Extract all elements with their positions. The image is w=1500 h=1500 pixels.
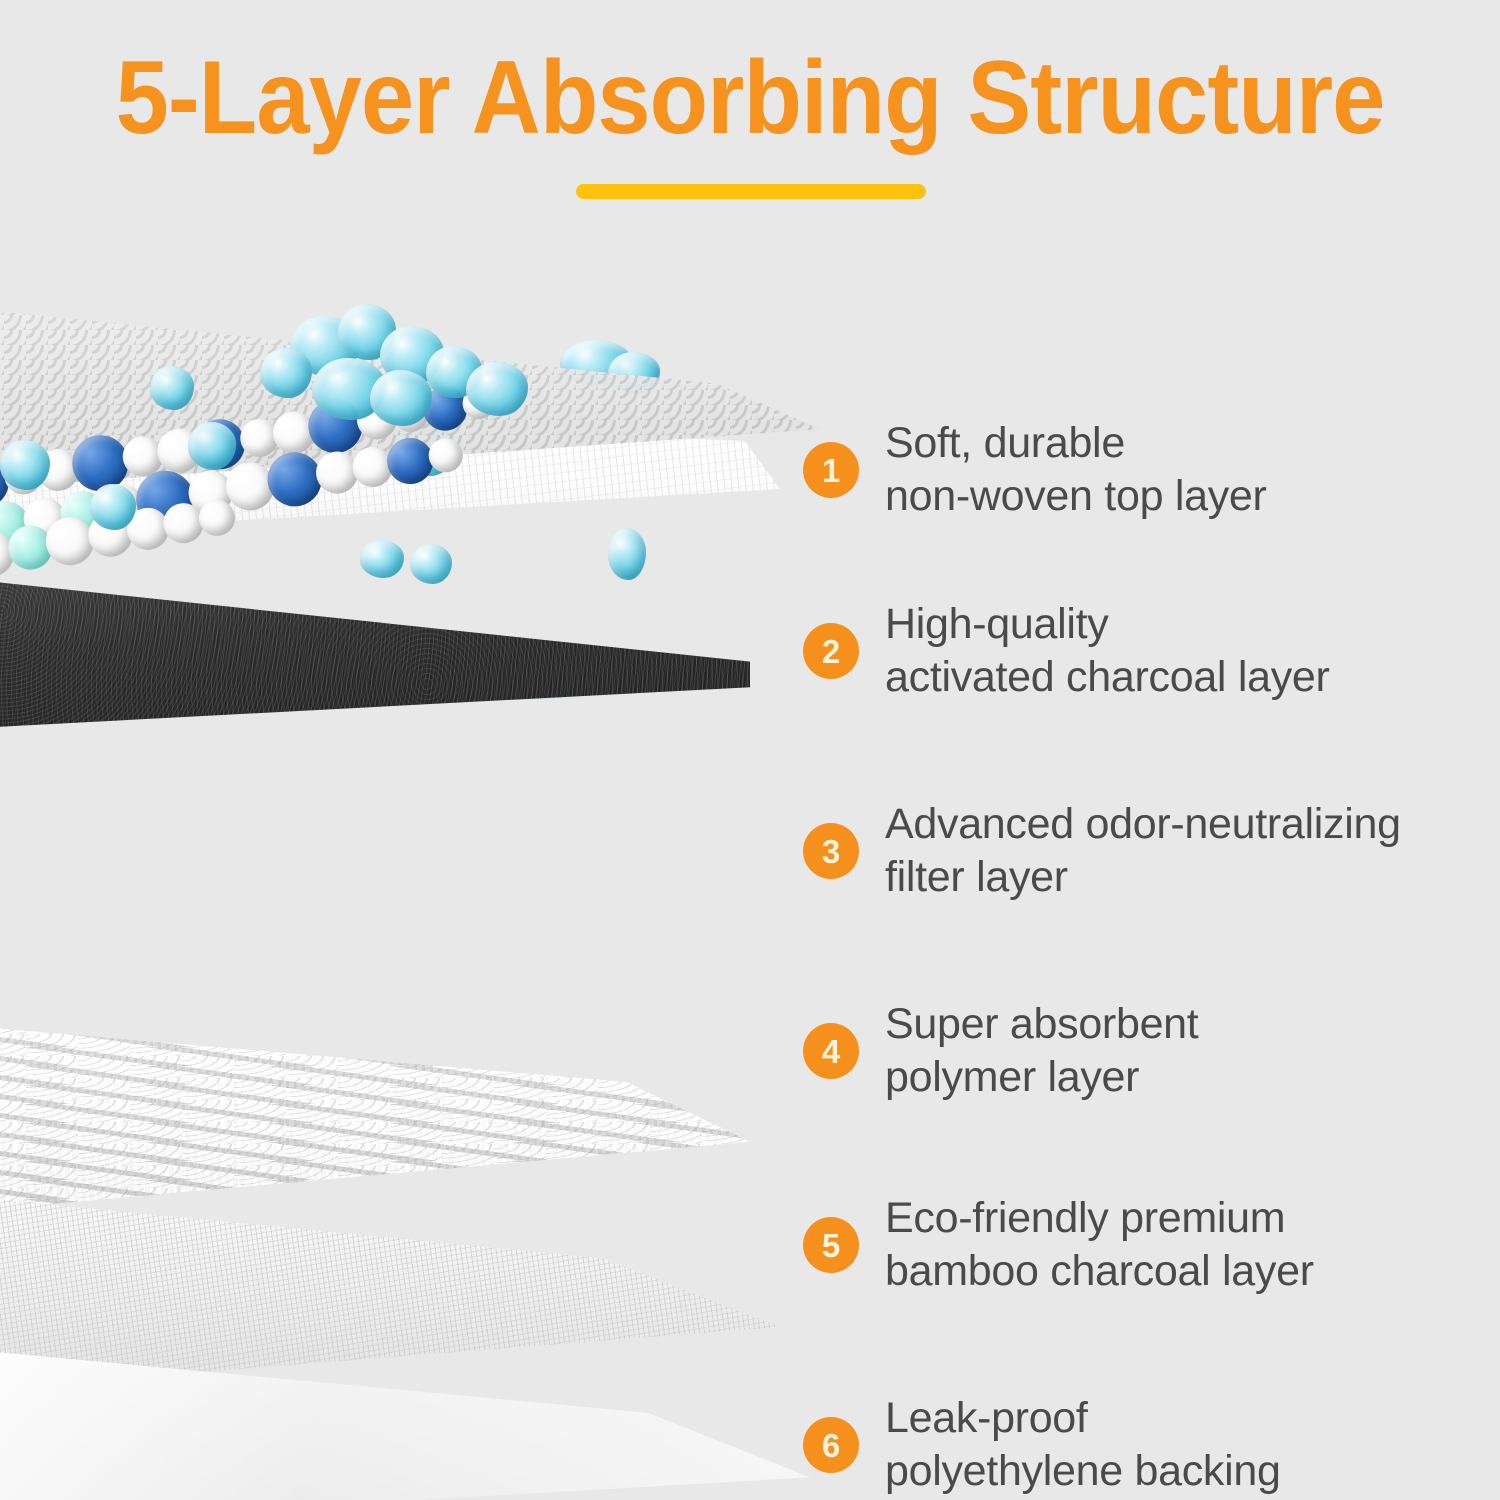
callout-4: 4 Super absorbent polymer layer <box>803 998 1198 1104</box>
callout-badge-2: 2 <box>803 623 859 679</box>
callout-label-2: High-quality activated charcoal layer <box>885 598 1330 704</box>
callout-label-1: Soft, durable non-woven top layer <box>885 417 1267 523</box>
callout-label-4: Super absorbent polymer layer <box>885 998 1198 1104</box>
callout-3: 3 Advanced odor-neutralizing filter laye… <box>803 798 1401 904</box>
callout-badge-5: 5 <box>803 1217 859 1273</box>
callout-badge-6: 6 <box>803 1417 859 1473</box>
callout-label-3: Advanced odor-neutralizing filter layer <box>885 798 1401 904</box>
callout-label-5: Eco-friendly premium bamboo charcoal lay… <box>885 1192 1314 1298</box>
callout-6: 6 Leak-proof polyethylene backing <box>803 1392 1281 1498</box>
callout-list: 1 Soft, durable non-woven top layer 2 Hi… <box>0 0 1500 1500</box>
callout-5: 5 Eco-friendly premium bamboo charcoal l… <box>803 1192 1314 1298</box>
callout-1: 1 Soft, durable non-woven top layer <box>803 417 1267 523</box>
infographic-canvas: 5-Layer Absorbing Structure <box>0 0 1500 1500</box>
callout-badge-1: 1 <box>803 442 859 498</box>
callout-badge-3: 3 <box>803 823 859 879</box>
callout-2: 2 High-quality activated charcoal layer <box>803 598 1330 704</box>
callout-label-6: Leak-proof polyethylene backing <box>885 1392 1281 1498</box>
callout-badge-4: 4 <box>803 1023 859 1079</box>
